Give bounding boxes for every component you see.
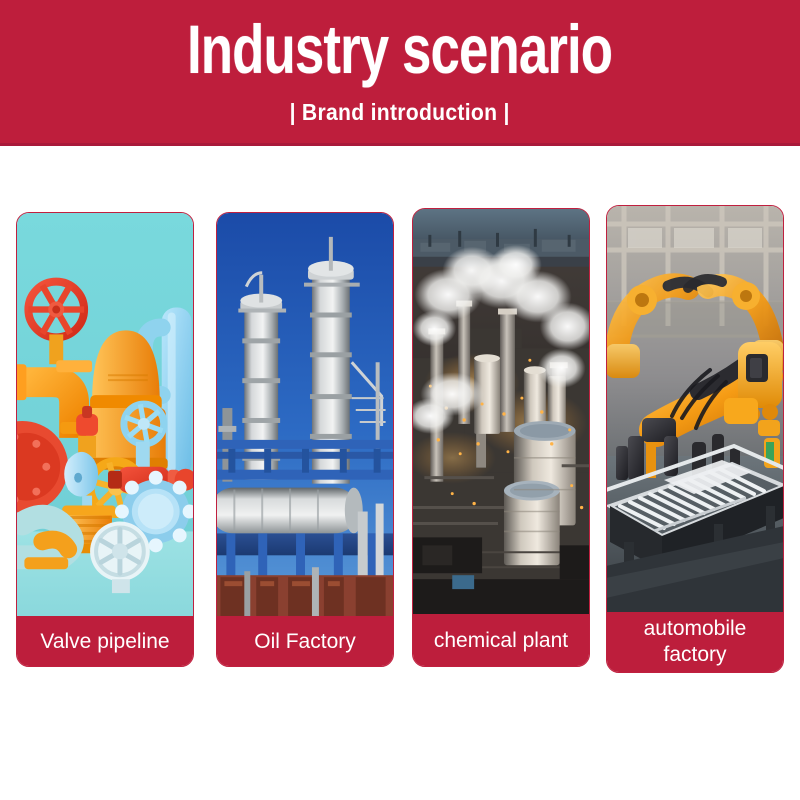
page-header: Industry scenario | Brand introduction | bbox=[0, 0, 800, 146]
card-image-automobile-factory bbox=[607, 206, 783, 612]
industry-card-automobile-factory[interactable]: automobile factory bbox=[606, 205, 784, 673]
industry-card-chemical-plant[interactable]: chemical plant bbox=[412, 208, 590, 667]
page-subtitle: | Brand introduction | bbox=[290, 99, 510, 125]
page-title: Industry scenario bbox=[187, 8, 612, 92]
card-image-valve-pipeline bbox=[17, 213, 193, 616]
header-content: Industry scenario | Brand introduction | bbox=[0, 0, 800, 146]
card-image-chemical-plant bbox=[413, 209, 589, 614]
card-image-oil-factory bbox=[217, 213, 393, 616]
card-label-chemical-plant: chemical plant bbox=[413, 614, 589, 666]
industry-card-row: Valve pipeline bbox=[0, 146, 800, 800]
industry-card-oil-factory[interactable]: Oil Factory bbox=[216, 212, 394, 667]
card-label-valve-pipeline: Valve pipeline bbox=[17, 616, 193, 666]
industry-card-valve-pipeline[interactable]: Valve pipeline bbox=[16, 212, 194, 667]
card-label-automobile-factory: automobile factory bbox=[607, 612, 783, 672]
card-label-oil-factory: Oil Factory bbox=[217, 616, 393, 666]
